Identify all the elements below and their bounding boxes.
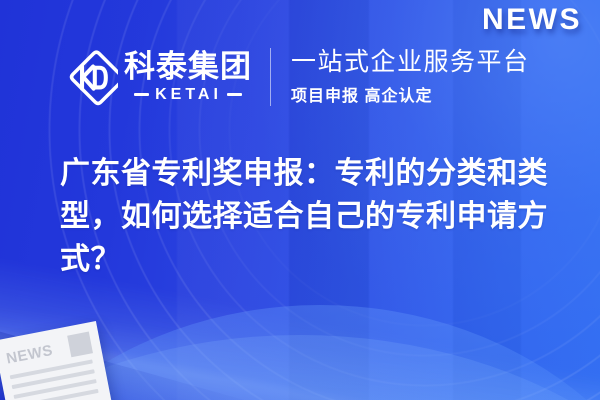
- tagline: 一站式企业服务平台 项目申报 高企认定: [291, 44, 530, 110]
- newspaper-thumbnail-icon: [67, 332, 93, 358]
- article-title: 广东省专利奖申报：专利的分类和类型，如何选择适合自己的专利申请方式？: [60, 152, 560, 281]
- tagline-primary: 一站式企业服务平台: [291, 48, 530, 77]
- banner-header: 科泰集团 KETAI 一站式企业服务平台 项目申报 高企认定: [60, 42, 530, 112]
- logo-wordmark: 科泰集团 KETAI: [124, 46, 252, 108]
- logo-company-name-en-row: KETAI: [124, 87, 252, 103]
- logo-company-name-cn: 科泰集团: [124, 51, 252, 84]
- logo-dash-right-icon: [227, 93, 242, 96]
- news-banner: NEWS 科泰集团: [0, 0, 600, 400]
- ketai-kd-monogram-icon: [60, 48, 118, 106]
- header-divider: [270, 48, 271, 106]
- logo-dash-left-icon: [134, 93, 149, 96]
- tagline-secondary: 项目申报 高企认定: [291, 82, 530, 106]
- newspaper-heading: NEWS: [5, 343, 54, 367]
- logo-company-name-en: KETAI: [155, 87, 222, 103]
- ketai-logo[interactable]: 科泰集团 KETAI: [60, 43, 252, 111]
- news-watermark-label: NEWS: [482, 5, 582, 35]
